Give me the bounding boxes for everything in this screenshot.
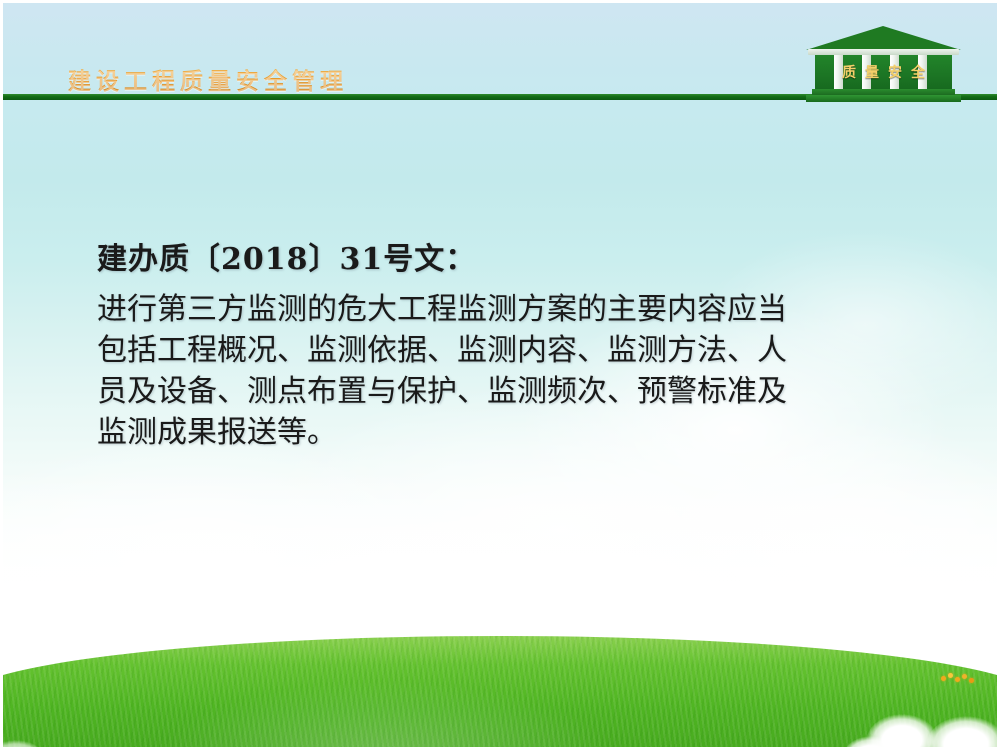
- page-title: 建设工程质量安全管理: [68, 62, 348, 96]
- slide-content: 建办质〔2018〕31号文： 进行第三方监测的危大工程监测方案的主要内容应当 包…: [97, 237, 887, 453]
- flower-icon: [962, 674, 967, 679]
- document-reference-heading: 建办质〔2018〕31号文：: [97, 237, 887, 283]
- flower-cluster-icon: [941, 673, 975, 685]
- temple-roof-icon: [806, 26, 961, 50]
- flower-icon: [955, 677, 960, 682]
- temple-base-step: [806, 95, 961, 102]
- body-line: 员及设备、测点布置与保护、监测频次、预警标准及: [97, 371, 887, 412]
- flower-icon: [948, 673, 953, 678]
- quality-safety-temple-logo: 质量安全: [806, 26, 961, 102]
- document-body-text: 进行第三方监测的危大工程监测方案的主要内容应当 包括工程概况、监测依据、监测内容…: [97, 289, 887, 453]
- grass-highlight: [150, 680, 620, 750]
- body-line: 监测成果报送等。: [97, 412, 887, 453]
- body-line: 包括工程概况、监测依据、监测内容、监测方法、人: [97, 330, 887, 371]
- logo-label: 质量安全: [815, 62, 952, 82]
- flower-icon: [941, 676, 946, 681]
- body-line: 进行第三方监测的危大工程监测方案的主要内容应当: [97, 289, 887, 330]
- presentation-slide: 建设工程质量安全管理 质量安全 建办质〔2018〕31号文： 进行第三方监测的危…: [0, 0, 1000, 750]
- flower-icon: [969, 678, 974, 683]
